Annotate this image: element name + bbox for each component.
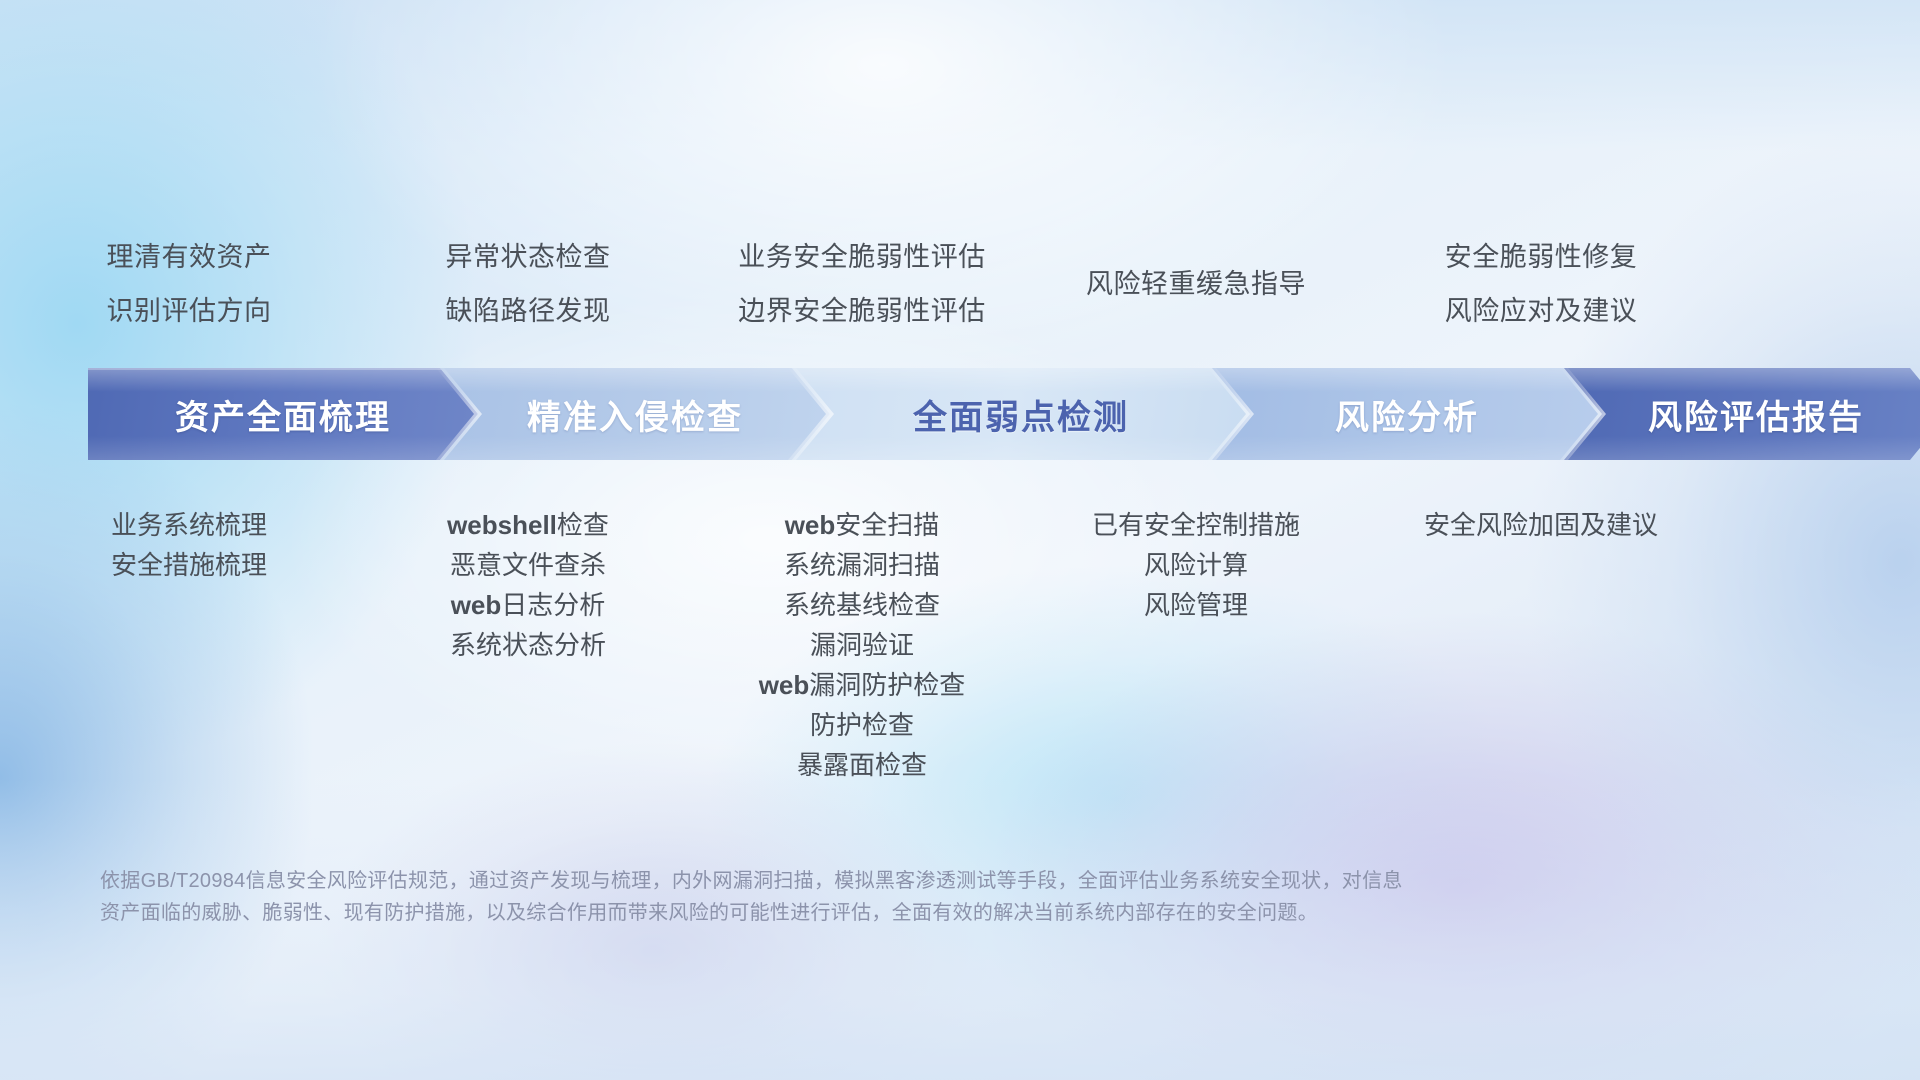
top-group-weakness-detection: 业务安全脆弱性评估 边界安全脆弱性评估 (678, 230, 1046, 338)
top-label: 安全脆弱性修复 (1346, 230, 1736, 284)
list-item: 恶意文件查杀 (378, 545, 678, 585)
list-item: 系统漏洞扫描 (678, 545, 1046, 585)
list-item: 系统基线检查 (678, 585, 1046, 625)
list-item-text: 系统基线检查 (784, 590, 940, 620)
footer-description: 依据GB/T20984信息安全风险评估规范，通过资产发现与梳理，内外网漏洞扫描，… (100, 865, 1660, 929)
bottom-group-intrusion-check: webshell检查 恶意文件查杀 web日志分析 系统状态分析 (378, 505, 678, 665)
top-label: 风险轻重缓急指导 (1046, 230, 1346, 338)
top-group-risk-analysis: 风险轻重缓急指导 (1046, 230, 1346, 338)
bottom-group-risk-analysis: 已有安全控制措施 风险计算 风险管理 (1046, 505, 1346, 625)
stage-title: 全面弱点检测 (913, 390, 1129, 439)
list-item: web日志分析 (378, 585, 678, 625)
list-item: 风险计算 (1046, 545, 1346, 585)
list-item-latin: web (785, 510, 836, 540)
list-item: 防护检查 (678, 705, 1046, 745)
top-label: 理清有效资产 (0, 230, 378, 284)
list-item-latin: webshell (447, 510, 557, 540)
footer-line-1: 依据GB/T20984信息安全风险评估规范，通过资产发现与梳理，内外网漏洞扫描，… (100, 865, 1660, 897)
process-stage-risk-report[interactable]: 风险评估报告 (1564, 368, 1920, 460)
list-item-text: 漏洞防护检查 (809, 670, 965, 700)
top-label: 异常状态检查 (378, 230, 678, 284)
list-item-text: 安全扫描 (835, 510, 939, 540)
list-item-text: 防护检查 (810, 710, 914, 740)
process-arrow-band: 资产全面梳理 精准入侵检查 全面弱点检测 风险分析 风险评估报告 (88, 368, 1848, 460)
list-item: 系统状态分析 (378, 625, 678, 665)
list-item: 暴露面检查 (678, 745, 1046, 785)
list-item-text: 暴露面检查 (797, 750, 927, 780)
list-item: 漏洞验证 (678, 625, 1046, 665)
list-item-text: 恶意文件查杀 (450, 550, 606, 580)
list-item-text: 风险管理 (1144, 590, 1248, 620)
stage-title: 风险评估报告 (1648, 390, 1864, 439)
process-stage-weakness-detection[interactable]: 全面弱点检测 (792, 368, 1250, 460)
top-group-risk-report: 安全脆弱性修复 风险应对及建议 (1346, 230, 1736, 338)
top-label: 识别评估方向 (0, 284, 378, 338)
list-item-text: 检查 (557, 510, 609, 540)
list-item: 风险管理 (1046, 585, 1346, 625)
list-item-latin: web (451, 590, 502, 620)
list-item: webshell检查 (378, 505, 678, 545)
list-item-text: 系统漏洞扫描 (784, 550, 940, 580)
list-item: 安全风险加固及建议 (1346, 505, 1736, 545)
top-label: 业务安全脆弱性评估 (678, 230, 1046, 284)
bottom-group-weakness-detection: web安全扫描 系统漏洞扫描 系统基线检查 漏洞验证 web漏洞防护检查 防护检… (678, 505, 1046, 785)
list-item: 已有安全控制措施 (1046, 505, 1346, 545)
top-group-asset-inventory: 理清有效资产 识别评估方向 (0, 230, 378, 338)
bottom-group-risk-report: 安全风险加固及建议 (1346, 505, 1736, 545)
process-stage-risk-analysis[interactable]: 风险分析 (1212, 368, 1602, 460)
top-label: 风险应对及建议 (1346, 284, 1736, 338)
list-item-text: 已有安全控制措施 (1092, 510, 1300, 540)
process-stage-asset-inventory[interactable]: 资产全面梳理 (88, 368, 478, 460)
list-item-text: 系统状态分析 (450, 630, 606, 660)
list-item-latin: web (759, 670, 810, 700)
list-item-text: 漏洞验证 (810, 630, 914, 660)
top-label-row: 理清有效资产 识别评估方向 异常状态检查 缺陷路径发现 业务安全脆弱性评估 边界… (0, 230, 1920, 338)
list-item: 安全措施梳理 (0, 545, 378, 585)
top-group-intrusion-check: 异常状态检查 缺陷路径发现 (378, 230, 678, 338)
process-diagram: 理清有效资产 识别评估方向 异常状态检查 缺陷路径发现 业务安全脆弱性评估 边界… (0, 0, 1920, 1080)
process-stage-intrusion-check[interactable]: 精准入侵检查 (440, 368, 830, 460)
bottom-group-asset-inventory: 业务系统梳理 安全措施梳理 (0, 505, 378, 585)
list-item-text: 业务系统梳理 (111, 510, 267, 540)
list-item: web安全扫描 (678, 505, 1046, 545)
stage-title: 资产全面梳理 (175, 390, 391, 439)
footer-line-2: 资产面临的威胁、脆弱性、现有防护措施，以及综合作用而带来风险的可能性进行评估，全… (100, 897, 1660, 929)
list-item-text: 日志分析 (501, 590, 605, 620)
top-label: 缺陷路径发现 (378, 284, 678, 338)
list-item-text: 安全措施梳理 (111, 550, 267, 580)
stage-title: 精准入侵检查 (527, 390, 743, 439)
stage-title: 风险分析 (1335, 390, 1479, 439)
bottom-label-row: 业务系统梳理 安全措施梳理 webshell检查 恶意文件查杀 web日志分析 … (0, 505, 1920, 785)
top-label: 边界安全脆弱性评估 (678, 284, 1046, 338)
list-item-text: 风险计算 (1144, 550, 1248, 580)
list-item-text: 安全风险加固及建议 (1424, 510, 1658, 540)
list-item: web漏洞防护检查 (678, 665, 1046, 705)
list-item: 业务系统梳理 (0, 505, 378, 545)
